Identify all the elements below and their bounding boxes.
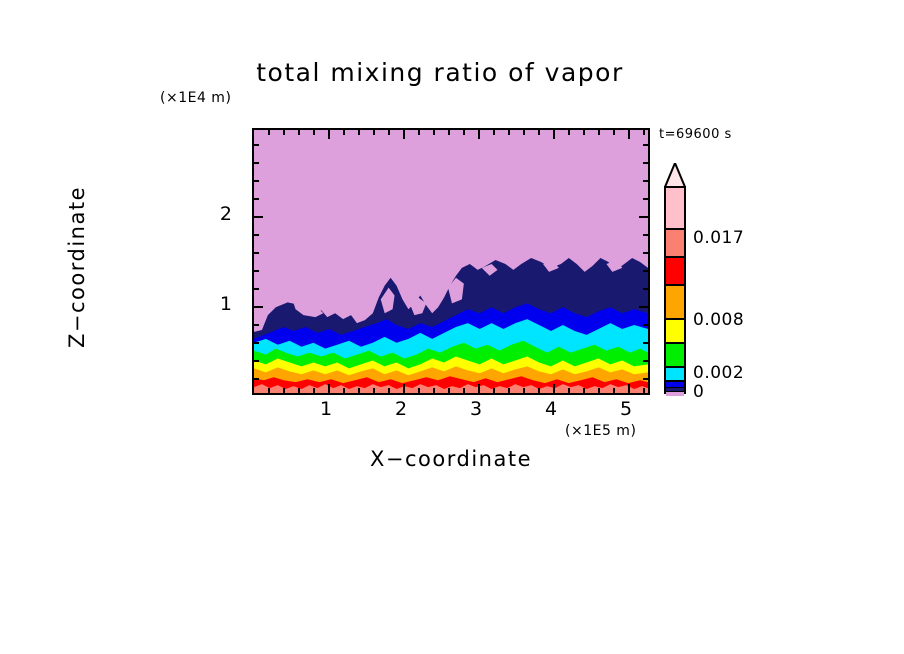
x-axis-tick-label: 1 [320,398,332,420]
x-axis-top-minor-tick [358,130,360,135]
colorbar-segment [666,258,684,286]
x-axis-minor-tick [463,388,465,393]
x-axis-top-minor-tick [343,130,345,135]
y-axis-right-major-tick [639,306,648,308]
colorbar-tick-label: 0.017 [693,228,744,248]
y-axis-minor-tick [254,162,259,164]
x-axis-minor-tick [523,388,525,393]
x-axis-major-tick [628,384,630,393]
y-axis-minor-tick [254,234,259,236]
colorbar-tick-label: 0 [693,382,704,402]
x-axis-minor-tick [448,388,450,393]
y-axis-minor-tick [254,378,259,380]
y-axis-unit-label: (×1E4 m) [160,90,231,106]
x-axis-major-tick [403,384,405,393]
x-axis-minor-tick [643,388,645,393]
x-axis-top-minor-tick [463,130,465,135]
y-axis-right-minor-tick [643,198,648,200]
y-axis-right-minor-tick [643,234,648,236]
y-axis-right-minor-tick [643,378,648,380]
y-axis-minor-tick [254,252,259,254]
x-axis-top-major-tick [628,130,630,139]
y-axis-right-major-tick [639,216,648,218]
y-axis-tick-label: 1 [220,293,232,315]
x-axis-minor-tick [613,388,615,393]
y-axis-right-minor-tick [643,270,648,272]
colorbar-segment [666,230,684,258]
y-axis-minor-tick [254,198,259,200]
x-axis-minor-tick [358,388,360,393]
y-axis-minor-tick [254,288,259,290]
x-axis-top-minor-tick [508,130,510,135]
y-axis-right-minor-tick [643,288,648,290]
x-axis-top-minor-tick [493,130,495,135]
colorbar-tick-label: 0.008 [693,310,744,330]
x-axis-minor-tick [313,388,315,393]
x-axis-top-minor-tick [298,130,300,135]
colorbar-segment [666,392,684,396]
colorbar-tick-label: 0.002 [693,363,744,383]
colorbar-segment [666,320,684,344]
y-axis-minor-tick [254,144,259,146]
x-axis-top-minor-tick [418,130,420,135]
x-axis-title: X−coordinate [252,447,650,471]
x-axis-tick-label: 2 [395,398,407,420]
x-axis-top-minor-tick [568,130,570,135]
x-axis-minor-tick [268,388,270,393]
x-axis-minor-tick [568,388,570,393]
y-axis-minor-tick [254,360,259,362]
x-axis-top-minor-tick [643,130,645,135]
y-axis-major-tick [254,306,263,308]
x-axis-minor-tick [373,388,375,393]
x-axis-major-tick [328,384,330,393]
x-axis-minor-tick [388,388,390,393]
x-axis-minor-tick [538,388,540,393]
x-axis-top-minor-tick [268,130,270,135]
x-axis-major-tick [478,384,480,393]
x-axis-minor-tick [433,388,435,393]
x-axis-tick-label: 3 [470,398,482,420]
x-axis-minor-tick [298,388,300,393]
y-axis-title: Z−coordinate [65,142,89,392]
y-axis-major-tick [254,216,263,218]
y-axis-minor-tick [254,270,259,272]
y-axis-minor-tick [254,324,259,326]
x-axis-minor-tick [418,388,420,393]
y-axis-right-minor-tick [643,144,648,146]
y-axis-right-minor-tick [643,162,648,164]
colorbar-top-arrow [664,163,686,187]
x-axis-top-minor-tick [373,130,375,135]
y-axis-right-minor-tick [643,180,648,182]
contour-plot-area [252,128,650,395]
x-axis-top-minor-tick [283,130,285,135]
x-axis-top-major-tick [328,130,330,139]
x-axis-minor-tick [343,388,345,393]
colorbar[interactable] [664,186,686,394]
contour-field [254,130,648,393]
y-axis-minor-tick [254,180,259,182]
colorbar-segment [666,286,684,320]
x-axis-top-minor-tick [313,130,315,135]
y-axis-right-minor-tick [643,342,648,344]
x-axis-top-minor-tick [523,130,525,135]
y-axis-right-minor-tick [643,360,648,362]
x-axis-major-tick [553,384,555,393]
x-axis-top-minor-tick [598,130,600,135]
x-axis-top-minor-tick [613,130,615,135]
x-axis-top-minor-tick [433,130,435,135]
colorbar-segment [666,188,684,230]
x-axis-minor-tick [583,388,585,393]
x-axis-minor-tick [493,388,495,393]
x-axis-tick-label: 4 [545,398,557,420]
timestamp-label: t=69600 s [659,127,732,142]
x-axis-minor-tick [598,388,600,393]
x-axis-top-minor-tick [448,130,450,135]
y-axis-minor-tick [254,342,259,344]
figure-canvas: total mixing ratio of vapor (×1E4 m) t=6… [0,0,904,654]
x-axis-top-major-tick [403,130,405,139]
y-axis-right-minor-tick [643,324,648,326]
x-axis-tick-label: 5 [620,398,632,420]
chart-title: total mixing ratio of vapor [200,58,680,87]
x-axis-top-major-tick [478,130,480,139]
x-axis-top-major-tick [553,130,555,139]
x-axis-top-minor-tick [388,130,390,135]
x-axis-top-minor-tick [583,130,585,135]
colorbar-segment [666,368,684,382]
y-axis-tick-label: 2 [220,203,232,225]
x-axis-top-minor-tick [538,130,540,135]
x-axis-minor-tick [508,388,510,393]
y-axis-right-minor-tick [643,252,648,254]
x-axis-minor-tick [283,388,285,393]
colorbar-segment [666,344,684,368]
x-axis-unit-label: (×1E5 m) [565,423,636,439]
